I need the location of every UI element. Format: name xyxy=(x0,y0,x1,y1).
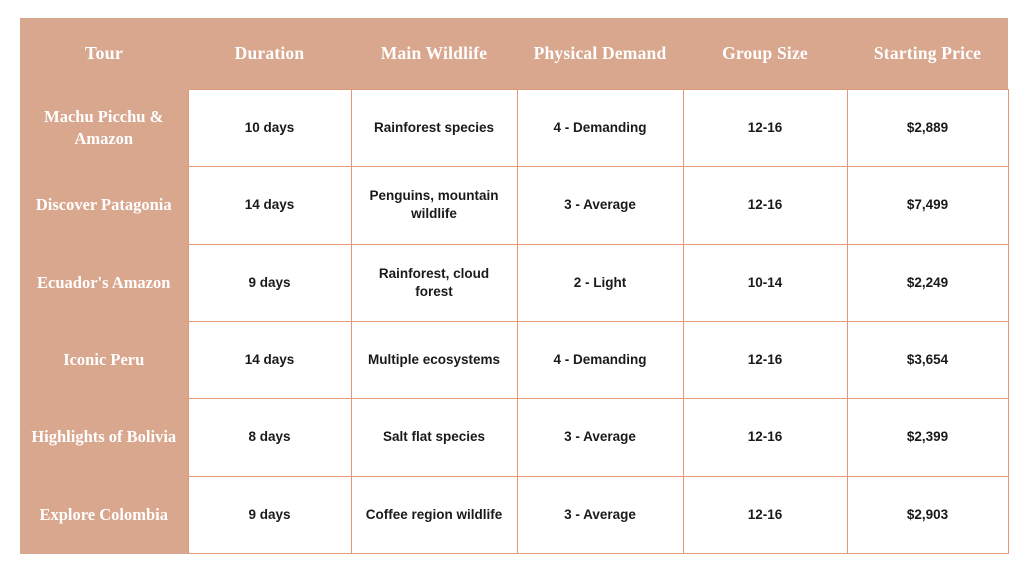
column-header-starting-price: Starting Price xyxy=(847,18,1008,90)
cell-physical-demand: 2 - Light xyxy=(517,244,683,321)
cell-group-size: 12-16 xyxy=(683,90,847,167)
cell-starting-price: $2,889 xyxy=(847,90,1008,167)
cell-main-wildlife: Penguins, mountain wildlife xyxy=(351,167,517,244)
cell-main-wildlife: Salt flat species xyxy=(351,399,517,476)
table-row: Iconic Peru 14 days Multiple ecosystems … xyxy=(20,321,1008,398)
table-body: Machu Picchu & Amazon 10 days Rainforest… xyxy=(20,90,1008,554)
table-row: Machu Picchu & Amazon 10 days Rainforest… xyxy=(20,90,1008,167)
cell-main-wildlife: Rainforest, cloud forest xyxy=(351,244,517,321)
row-label-tour-name: Ecuador's Amazon xyxy=(20,244,188,321)
table-row: Explore Colombia 9 days Coffee region wi… xyxy=(20,476,1008,553)
table-row: Highlights of Bolivia 8 days Salt flat s… xyxy=(20,399,1008,476)
row-label-tour-name: Highlights of Bolivia xyxy=(20,399,188,476)
cell-starting-price: $2,249 xyxy=(847,244,1008,321)
cell-physical-demand: 3 - Average xyxy=(517,399,683,476)
column-header-physical-demand: Physical Demand xyxy=(517,18,683,90)
cell-duration: 9 days xyxy=(188,476,351,553)
cell-starting-price: $7,499 xyxy=(847,167,1008,244)
cell-main-wildlife: Rainforest species xyxy=(351,90,517,167)
cell-group-size: 12-16 xyxy=(683,321,847,398)
column-header-tour: Tour xyxy=(20,18,188,90)
cell-physical-demand: 4 - Demanding xyxy=(517,321,683,398)
cell-starting-price: $2,399 xyxy=(847,399,1008,476)
cell-duration: 8 days xyxy=(188,399,351,476)
cell-group-size: 10-14 xyxy=(683,244,847,321)
cell-group-size: 12-16 xyxy=(683,167,847,244)
cell-duration: 14 days xyxy=(188,167,351,244)
cell-duration: 14 days xyxy=(188,321,351,398)
table-row: Ecuador's Amazon 9 days Rainforest, clou… xyxy=(20,244,1008,321)
row-label-tour-name: Discover Patagonia xyxy=(20,167,188,244)
row-label-tour-name: Machu Picchu & Amazon xyxy=(20,90,188,167)
column-header-duration: Duration xyxy=(188,18,351,90)
column-header-main-wildlife: Main Wildlife xyxy=(351,18,517,90)
table-row: Discover Patagonia 14 days Penguins, mou… xyxy=(20,167,1008,244)
cell-starting-price: $2,903 xyxy=(847,476,1008,553)
table-header: Tour Duration Main Wildlife Physical Dem… xyxy=(20,18,1008,90)
cell-main-wildlife: Coffee region wildlife xyxy=(351,476,517,553)
cell-physical-demand: 3 - Average xyxy=(517,476,683,553)
cell-group-size: 12-16 xyxy=(683,399,847,476)
cell-duration: 10 days xyxy=(188,90,351,167)
cell-group-size: 12-16 xyxy=(683,476,847,553)
header-row: Tour Duration Main Wildlife Physical Dem… xyxy=(20,18,1008,90)
cell-main-wildlife: Multiple ecosystems xyxy=(351,321,517,398)
row-label-tour-name: Explore Colombia xyxy=(20,476,188,553)
cell-duration: 9 days xyxy=(188,244,351,321)
page-canvas: Tour Duration Main Wildlife Physical Dem… xyxy=(0,0,1024,576)
tour-comparison-table: Tour Duration Main Wildlife Physical Dem… xyxy=(20,18,1009,554)
cell-starting-price: $3,654 xyxy=(847,321,1008,398)
cell-physical-demand: 3 - Average xyxy=(517,167,683,244)
column-header-group-size: Group Size xyxy=(683,18,847,90)
cell-physical-demand: 4 - Demanding xyxy=(517,90,683,167)
row-label-tour-name: Iconic Peru xyxy=(20,321,188,398)
